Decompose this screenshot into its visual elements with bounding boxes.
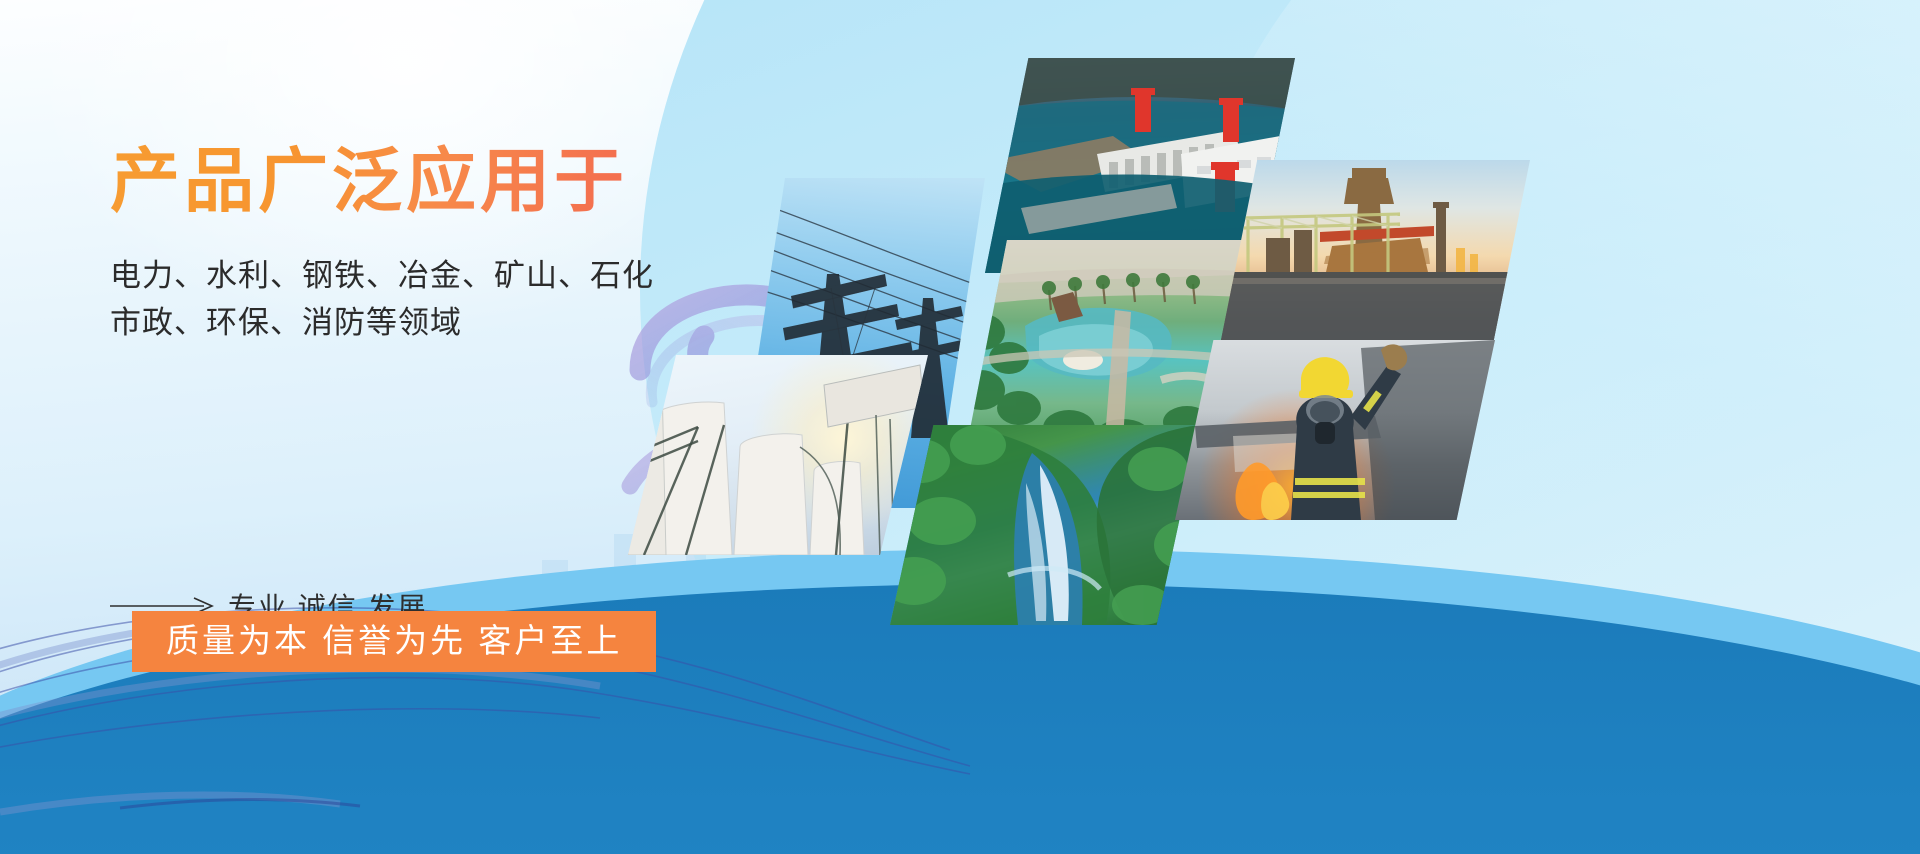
- photo-oil-storage-tank: [628, 355, 928, 555]
- photo-collage: [0, 0, 1920, 854]
- subtitle-line-1: 电力、水利、钢铁、冶金、矿山、石化: [110, 252, 750, 299]
- promo-banner: 产品广泛应用于 电力、水利、钢铁、冶金、矿山、石化 市政、环保、消防等领域 专业…: [0, 0, 1920, 854]
- photo-steel-mill: [1220, 160, 1530, 345]
- photo-firefighter: [1175, 340, 1495, 520]
- subtitle-line-2: 市政、环保、消防等领域: [110, 299, 750, 346]
- headline-block: 产品广泛应用于 电力、水利、钢铁、冶金、矿山、石化 市政、环保、消防等领域: [110, 138, 750, 346]
- subtitle-block: 电力、水利、钢铁、冶金、矿山、石化 市政、环保、消防等领域: [110, 252, 750, 346]
- slogan-text: 质量为本 信誉为先 客户至上: [166, 622, 622, 659]
- slogan-bar: 质量为本 信誉为先 客户至上: [132, 611, 656, 672]
- page-title: 产品广泛应用于: [110, 138, 750, 226]
- photo-forest-waterfall: [890, 425, 1200, 625]
